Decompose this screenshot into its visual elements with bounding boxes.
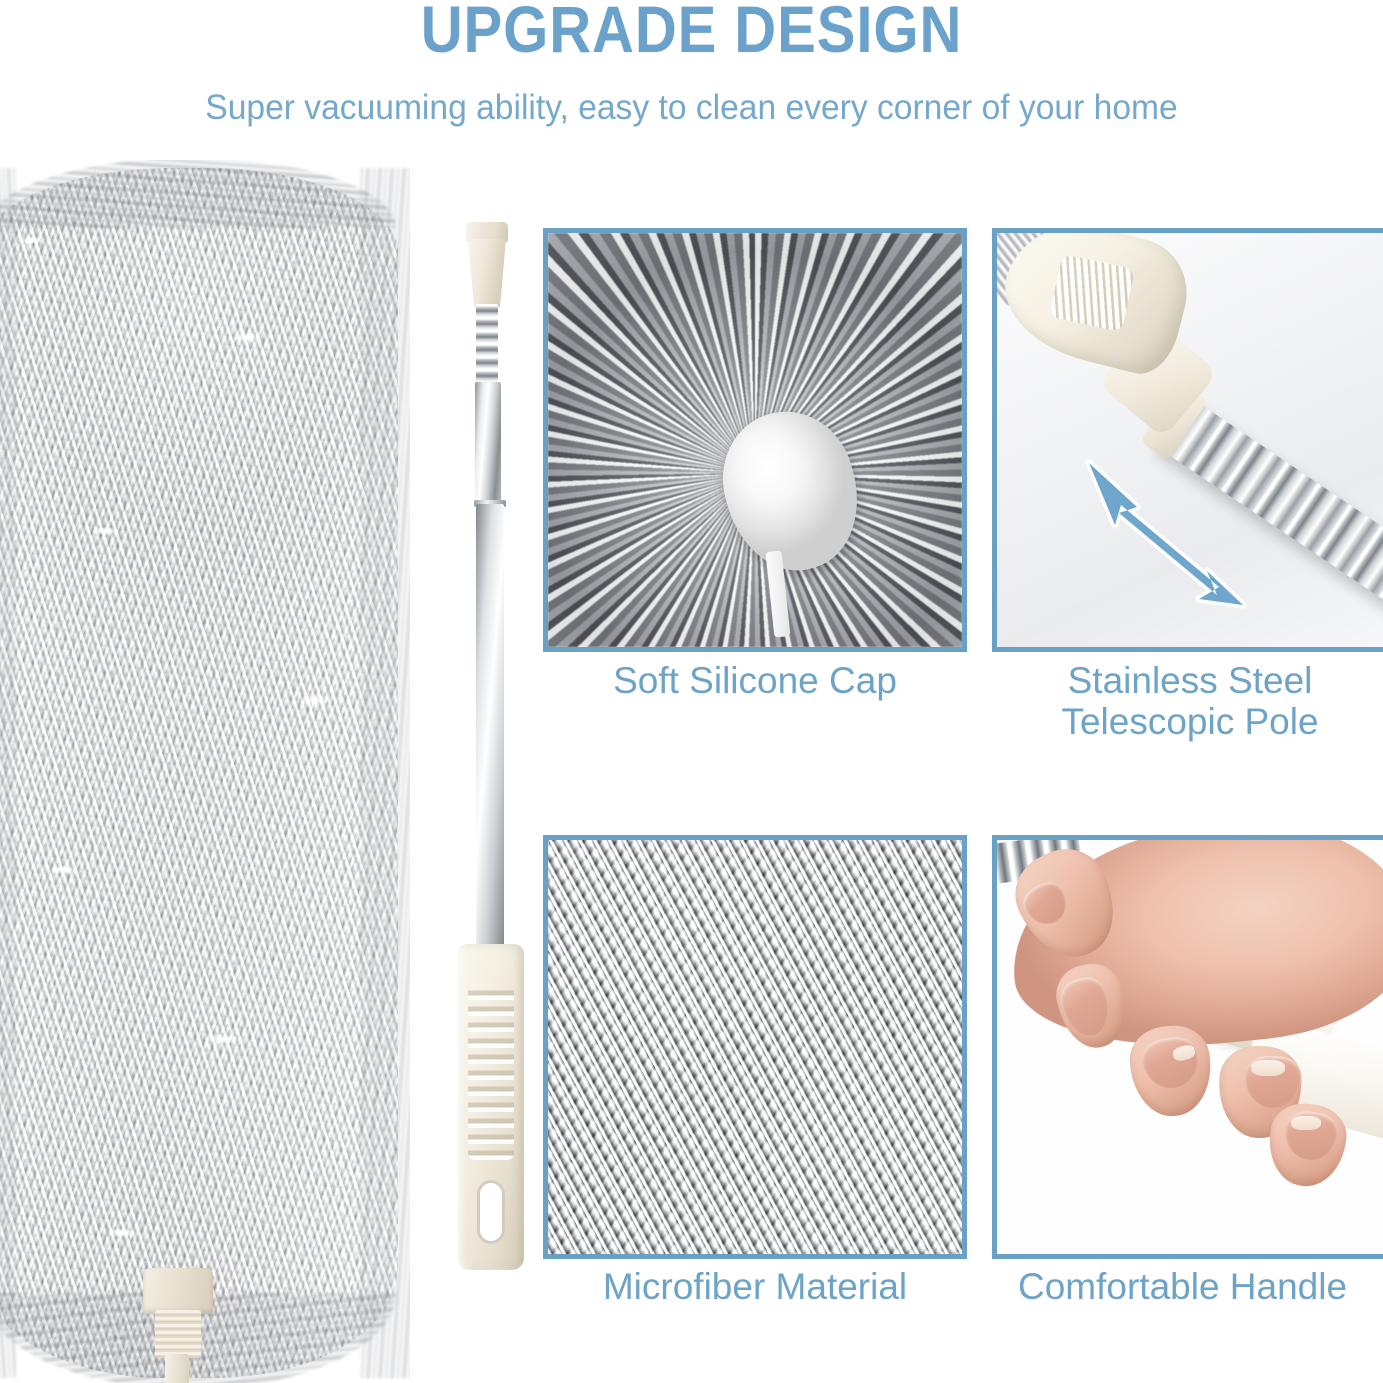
socket-threads <box>155 1310 201 1358</box>
duster-connector-socket <box>135 1268 221 1383</box>
socket-stem <box>165 1354 189 1383</box>
handle-grip-ridges <box>468 984 514 1160</box>
product-duster-head-image <box>0 160 410 1383</box>
feature-panel-stainless-steel-telescopic-pole <box>992 228 1383 652</box>
feature-label-line-2: Telescopic Pole <box>992 701 1383 742</box>
pole-shaft-upper <box>475 382 501 508</box>
header-banner: UPGRADE DESIGN Super vacuuming ability, … <box>0 0 1383 160</box>
page-subtitle: Super vacuuming ability, easy to clean e… <box>28 86 1356 130</box>
pole-handle-grip <box>458 944 524 1270</box>
socket-cap <box>143 1268 213 1314</box>
feature-label-soft-silicone-cap: Soft Silicone Cap <box>543 660 967 701</box>
feature-panel-comfortable-handle <box>992 835 1383 1259</box>
feature-label-microfiber-material: Microfiber Material <box>543 1266 967 1307</box>
pole-telescoping-segments <box>476 304 498 386</box>
product-telescopic-pole-image <box>430 222 540 1302</box>
page-title: UPGRADE DESIGN <box>83 0 1300 62</box>
feature-label-stainless-steel-telescopic-pole: Stainless Steel Telescopic Pole <box>992 660 1383 743</box>
feature-panel-soft-silicone-cap <box>543 228 967 652</box>
finger-nail-tip-ring <box>1251 1060 1285 1076</box>
finger-nail-tip-pinky <box>1291 1116 1321 1130</box>
double-arrow-icon <box>1059 445 1279 625</box>
duster-head-fibers <box>0 168 398 1378</box>
handle-hanging-hole <box>477 1180 505 1244</box>
feature-panel-microfiber-material <box>543 835 967 1259</box>
duster-fringe-top <box>0 160 396 228</box>
microfiber-texture-photo <box>548 840 962 1254</box>
feature-label-comfortable-handle: Comfortable Handle <box>992 1266 1383 1307</box>
pole-collar <box>468 239 506 307</box>
feature-label-line-1: Stainless Steel <box>992 660 1383 701</box>
